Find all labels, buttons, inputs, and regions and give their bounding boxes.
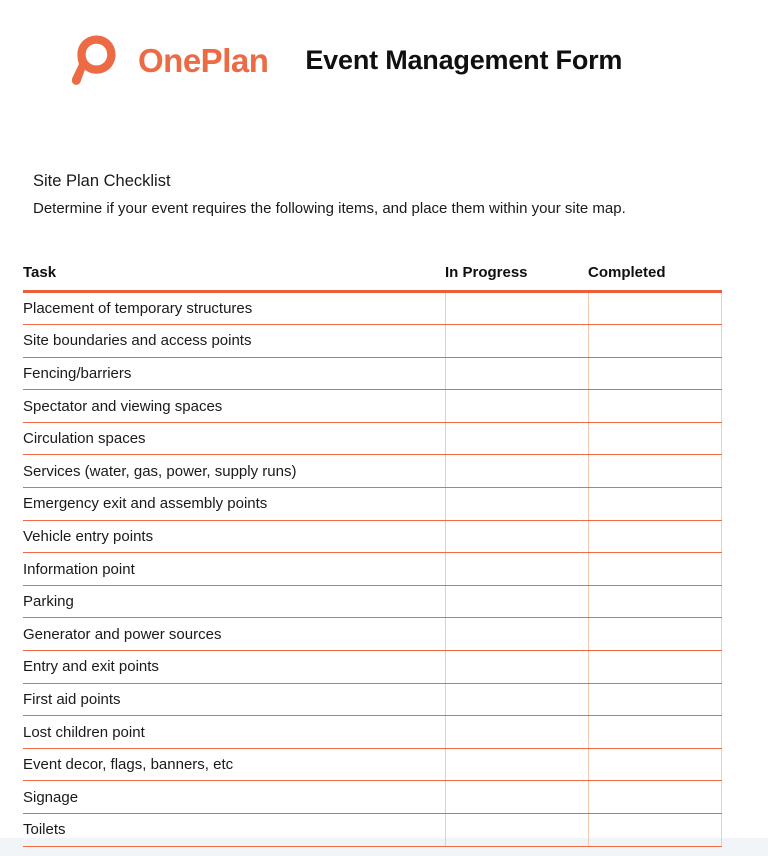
in-progress-checkbox-cell[interactable]: [445, 291, 588, 325]
section-description: Determine if your event requires the fol…: [33, 199, 768, 219]
task-label: Vehicle entry points: [23, 520, 445, 553]
task-label: Placement of temporary structures: [23, 291, 445, 325]
in-progress-checkbox-cell[interactable]: [445, 716, 588, 749]
task-label: First aid points: [23, 683, 445, 716]
in-progress-checkbox-cell[interactable]: [445, 748, 588, 781]
completed-checkbox-cell[interactable]: [588, 585, 721, 618]
task-label: Circulation spaces: [23, 422, 445, 455]
task-label: Parking: [23, 585, 445, 618]
task-label: Signage: [23, 781, 445, 814]
in-progress-checkbox-cell[interactable]: [445, 357, 588, 390]
in-progress-checkbox-cell[interactable]: [445, 325, 588, 358]
in-progress-checkbox-cell[interactable]: [445, 455, 588, 488]
table-row: Signage: [23, 781, 721, 814]
in-progress-checkbox-cell[interactable]: [445, 553, 588, 586]
column-header-in-progress: In Progress: [445, 264, 588, 292]
in-progress-checkbox-cell[interactable]: [445, 683, 588, 716]
in-progress-checkbox-cell[interactable]: [445, 814, 588, 847]
table-row: Lost children point: [23, 716, 721, 749]
completed-checkbox-cell[interactable]: [588, 651, 721, 684]
checklist-table-container: Task In Progress Completed Placement of …: [0, 264, 768, 847]
task-label: Information point: [23, 553, 445, 586]
table-row: Circulation spaces: [23, 422, 721, 455]
in-progress-checkbox-cell[interactable]: [445, 390, 588, 423]
in-progress-checkbox-cell[interactable]: [445, 618, 588, 651]
completed-checkbox-cell[interactable]: [588, 325, 721, 358]
table-row: Entry and exit points: [23, 651, 721, 684]
table-row: Toilets: [23, 814, 721, 847]
table-header-row: Task In Progress Completed: [23, 264, 721, 292]
task-label: Generator and power sources: [23, 618, 445, 651]
in-progress-checkbox-cell[interactable]: [445, 488, 588, 521]
completed-checkbox-cell[interactable]: [588, 488, 721, 521]
table-row: Site boundaries and access points: [23, 325, 721, 358]
completed-checkbox-cell[interactable]: [588, 357, 721, 390]
task-label: Event decor, flags, banners, etc: [23, 748, 445, 781]
task-label: Emergency exit and assembly points: [23, 488, 445, 521]
column-header-task: Task: [23, 264, 445, 292]
task-label: Toilets: [23, 814, 445, 847]
table-row: Placement of temporary structures: [23, 291, 721, 325]
task-label: Spectator and viewing spaces: [23, 390, 445, 423]
table-header: Task In Progress Completed: [23, 264, 721, 292]
task-label: Fencing/barriers: [23, 357, 445, 390]
table-row: Emergency exit and assembly points: [23, 488, 721, 521]
completed-checkbox-cell[interactable]: [588, 455, 721, 488]
intro-section: Site Plan Checklist Determine if your ev…: [0, 170, 768, 220]
completed-checkbox-cell[interactable]: [588, 422, 721, 455]
table-row: Fencing/barriers: [23, 357, 721, 390]
brand-name: OnePlan: [138, 44, 268, 77]
table-row: Spectator and viewing spaces: [23, 390, 721, 423]
document-page: OnePlan Event Management Form Site Plan …: [0, 0, 768, 856]
brand-lockup: OnePlan: [62, 29, 268, 91]
completed-checkbox-cell[interactable]: [588, 683, 721, 716]
table-row: Services (water, gas, power, supply runs…: [23, 455, 721, 488]
oneplan-pin-logo-icon: [62, 29, 124, 91]
in-progress-checkbox-cell[interactable]: [445, 422, 588, 455]
completed-checkbox-cell[interactable]: [588, 553, 721, 586]
completed-checkbox-cell[interactable]: [588, 291, 721, 325]
completed-checkbox-cell[interactable]: [588, 716, 721, 749]
completed-checkbox-cell[interactable]: [588, 520, 721, 553]
task-label: Site boundaries and access points: [23, 325, 445, 358]
task-label: Services (water, gas, power, supply runs…: [23, 455, 445, 488]
page-title: Event Management Form: [305, 47, 622, 74]
table-row: Information point: [23, 553, 721, 586]
table-row: First aid points: [23, 683, 721, 716]
in-progress-checkbox-cell[interactable]: [445, 520, 588, 553]
column-header-completed: Completed: [588, 264, 721, 292]
completed-checkbox-cell[interactable]: [588, 390, 721, 423]
table-row: Generator and power sources: [23, 618, 721, 651]
table-row: Event decor, flags, banners, etc: [23, 748, 721, 781]
in-progress-checkbox-cell[interactable]: [445, 651, 588, 684]
completed-checkbox-cell[interactable]: [588, 618, 721, 651]
in-progress-checkbox-cell[interactable]: [445, 781, 588, 814]
table-row: Parking: [23, 585, 721, 618]
task-label: Lost children point: [23, 716, 445, 749]
table-body: Placement of temporary structuresSite bo…: [23, 291, 721, 846]
in-progress-checkbox-cell[interactable]: [445, 585, 588, 618]
task-label: Entry and exit points: [23, 651, 445, 684]
completed-checkbox-cell[interactable]: [588, 781, 721, 814]
table-row: Vehicle entry points: [23, 520, 721, 553]
section-heading: Site Plan Checklist: [33, 170, 768, 192]
completed-checkbox-cell[interactable]: [588, 748, 721, 781]
document-header: OnePlan Event Management Form: [0, 0, 768, 86]
completed-checkbox-cell[interactable]: [588, 814, 721, 847]
site-plan-checklist-table: Task In Progress Completed Placement of …: [23, 264, 722, 847]
